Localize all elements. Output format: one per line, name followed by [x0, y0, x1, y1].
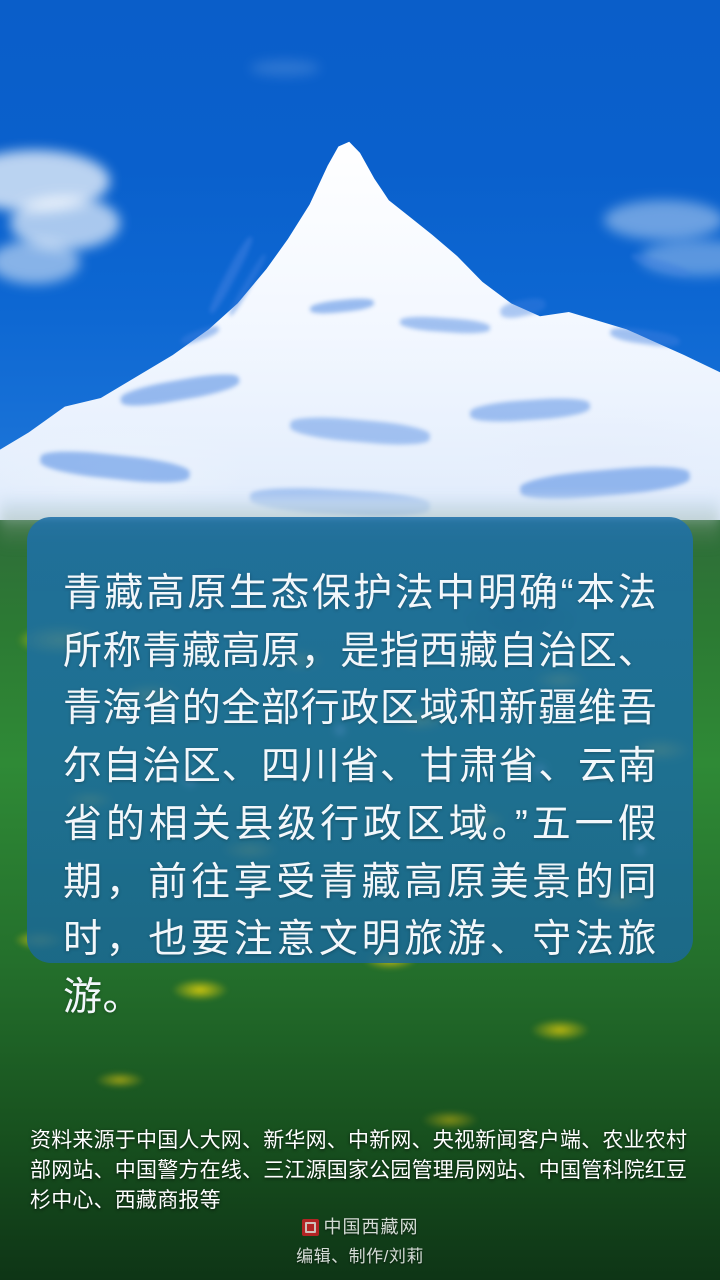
quote-text: 青藏高原生态保护法中明确“本法所称青藏高原，是指西藏自治区、青海省的全部行政区域…: [63, 565, 657, 1027]
cloud-right-upper: [604, 200, 720, 240]
poster-root: 青藏高原生态保护法中明确“本法所称青藏高原，是指西藏自治区、青海省的全部行政区域…: [0, 0, 720, 1280]
quote-card: 青藏高原生态保护法中明确“本法所称青藏高原，是指西藏自治区、青海省的全部行政区域…: [27, 517, 693, 963]
watermark-credit: 编辑、制作/刘莉: [0, 1242, 720, 1267]
watermark-brand-name: 中国西藏网: [324, 1218, 419, 1236]
cloud-wisp: [250, 60, 320, 76]
watermark: 中国西藏网 编辑、制作/刘莉: [0, 1218, 720, 1267]
source-attribution: 资料来源于中国人大网、新华网、中新网、央视新闻客户端、农业农村部网站、中国警方在…: [30, 1126, 696, 1215]
watermark-brand: 中国西藏网: [0, 1218, 720, 1236]
china-tibet-net-logo-icon: [302, 1219, 319, 1236]
